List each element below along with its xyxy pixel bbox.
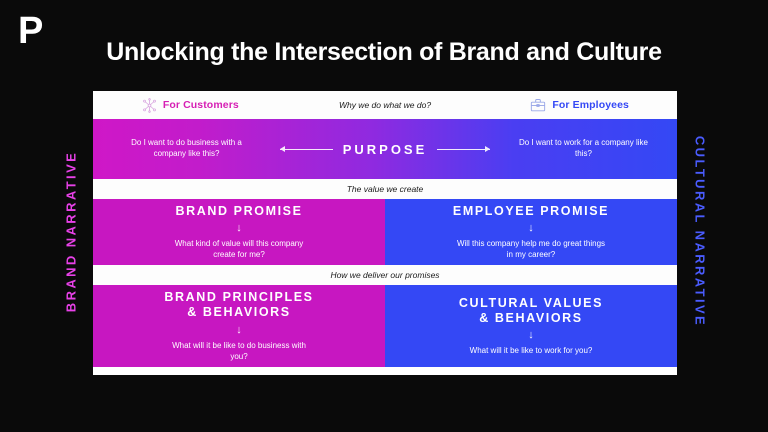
brand-principles-question: What will it be like to do business with… <box>164 340 314 362</box>
brand-principles-title: BRAND PRINCIPLES & BEHAVIORS <box>164 290 313 321</box>
employee-promise-pane: EMPLOYEE PROMISE ↓ Will this company hel… <box>385 199 677 265</box>
purpose-word: PURPOSE <box>343 142 428 157</box>
arrow-right-icon <box>437 149 490 150</box>
page-title: Unlocking the Intersection of Brand and … <box>0 38 768 67</box>
for-employees-label: For Employees <box>552 99 629 111</box>
employee-promise-question: Will this company help me do great thing… <box>456 238 606 260</box>
diagram-header-row: For Customers Why we do what we do? For … <box>93 91 677 119</box>
brand-principles-pane: BRAND PRINCIPLES & BEHAVIORS ↓ What will… <box>93 285 385 367</box>
divider-2-text: How we deliver our promises <box>330 270 439 280</box>
arrow-down-icon: ↓ <box>236 223 242 234</box>
purpose-right-side: Do I want to work for a company like thi… <box>490 138 677 160</box>
principles-row: BRAND PRINCIPLES & BEHAVIORS ↓ What will… <box>93 285 677 367</box>
briefcase-icon <box>530 98 546 113</box>
header-cell-customers: For Customers <box>93 98 288 113</box>
why-we-do-label: Why we do what we do? <box>339 100 431 110</box>
header-cell-center: Why we do what we do? <box>288 100 483 110</box>
brand-culture-diagram: For Customers Why we do what we do? For … <box>93 91 677 375</box>
brand-promise-title: BRAND PROMISE <box>175 204 302 219</box>
purpose-center: PURPOSE <box>280 142 490 157</box>
cultural-values-title: CULTURAL VALUES & BEHAVIORS <box>459 296 603 327</box>
purpose-left-side: Do I want to do business with a company … <box>93 138 280 160</box>
arrow-left-icon <box>280 149 333 150</box>
network-nodes-icon <box>142 98 157 113</box>
header-cell-employees: For Employees <box>482 98 677 113</box>
cultural-narrative-label: CULTURAL NARRATIVE <box>693 132 708 332</box>
promise-row: BRAND PROMISE ↓ What kind of value will … <box>93 199 677 265</box>
brand-narrative-label: BRAND NARRATIVE <box>64 132 79 332</box>
cultural-values-pane: CULTURAL VALUES & BEHAVIORS ↓ What will … <box>385 285 677 367</box>
cultural-values-question: What will it be like to work for you? <box>470 345 593 356</box>
arrow-down-icon: ↓ <box>236 325 242 336</box>
brand-promise-pane: BRAND PROMISE ↓ What kind of value will … <box>93 199 385 265</box>
brand-promise-question: What kind of value will this company cre… <box>164 238 314 260</box>
purpose-right-question: Do I want to work for a company like thi… <box>519 138 649 160</box>
divider-1-text: The value we create <box>347 184 424 194</box>
purpose-row: Do I want to do business with a company … <box>93 119 677 179</box>
divider-value-we-create: The value we create <box>93 179 677 199</box>
purpose-left-question: Do I want to do business with a company … <box>122 138 252 160</box>
for-customers-label: For Customers <box>163 99 239 111</box>
arrow-down-icon: ↓ <box>528 223 534 234</box>
divider-how-we-deliver: How we deliver our promises <box>93 265 677 285</box>
employee-promise-title: EMPLOYEE PROMISE <box>453 204 609 219</box>
arrow-down-icon: ↓ <box>528 330 534 341</box>
